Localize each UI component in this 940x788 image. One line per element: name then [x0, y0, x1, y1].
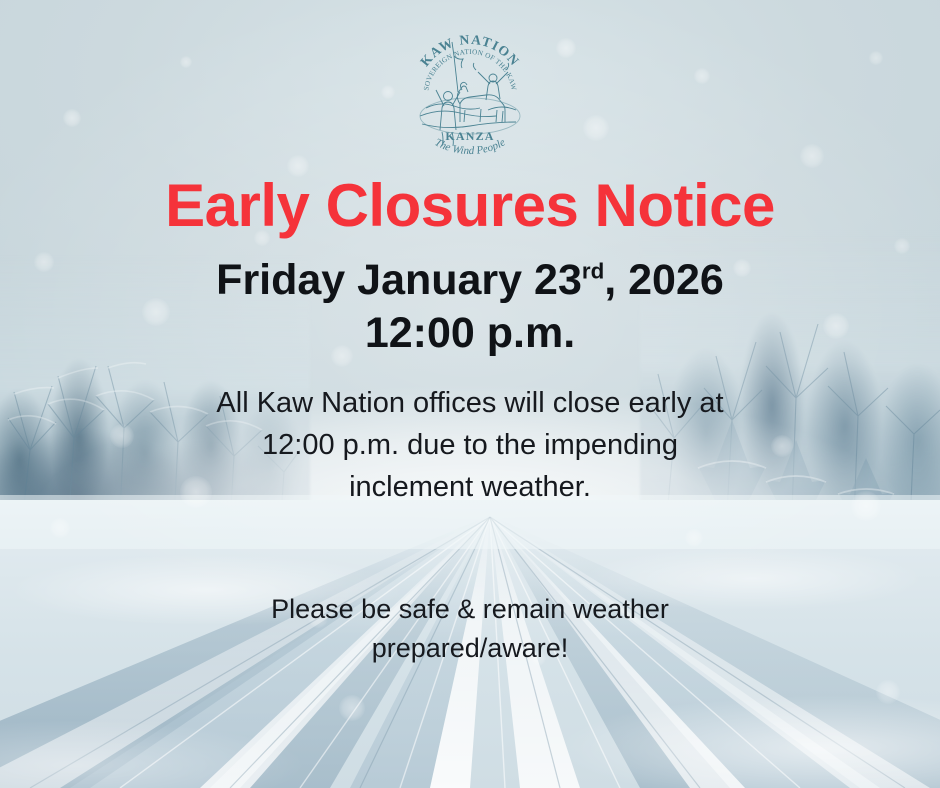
- closure-date-line: Friday January 23rd, 2026: [216, 258, 724, 303]
- early-closure-notice-poster: KAW NATION SOVEREIGN NATION OF THE KAW K…: [0, 0, 940, 788]
- date-ordinal-suffix: rd: [582, 259, 604, 284]
- date-prefix: Friday January 23: [216, 256, 582, 304]
- seal-icon: KAW NATION SOVEREIGN NATION OF THE KAW K…: [402, 12, 538, 160]
- poster-content: KAW NATION SOVEREIGN NATION OF THE KAW K…: [0, 0, 940, 788]
- closure-time-line: 12:00 p.m.: [365, 311, 575, 356]
- closure-body-paragraph: All Kaw Nation offices will close early …: [210, 382, 730, 508]
- logo-kanza-text: KANZA: [445, 129, 494, 143]
- date-suffix: , 2026: [604, 256, 724, 304]
- page-title: Early Closures Notice: [165, 176, 775, 236]
- kaw-nation-seal-logo: KAW NATION SOVEREIGN NATION OF THE KAW K…: [402, 12, 538, 160]
- closure-closing-paragraph: Please be safe & remain weather prepared…: [190, 590, 750, 667]
